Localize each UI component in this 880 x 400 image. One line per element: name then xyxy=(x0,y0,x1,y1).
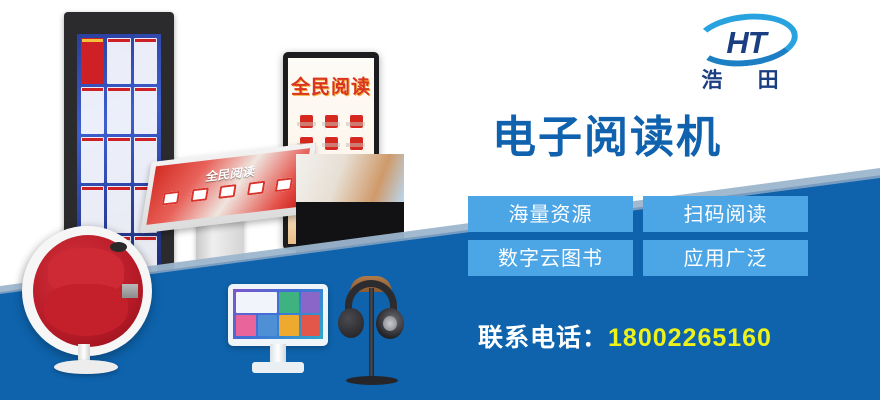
logo-chinese-name: 浩 田 xyxy=(676,64,804,94)
feature-tag-list: 海量资源 扫码阅读 数字云图书 应用广泛 xyxy=(468,196,808,276)
chair-control-panel-front xyxy=(122,284,138,298)
logo-mark-text: HT xyxy=(698,26,794,60)
app-icon-book xyxy=(297,114,316,126)
product-headphones-front xyxy=(332,276,410,388)
contact-phone-number[interactable]: 18002265160 xyxy=(608,324,772,352)
feature-tag-massive-resources[interactable]: 海量资源 xyxy=(468,196,633,232)
backdrop-panel-image xyxy=(296,154,404,202)
feature-tag-scan-to-read[interactable]: 扫码阅读 xyxy=(643,196,808,232)
contact-label: 联系电话： xyxy=(478,323,608,352)
app-icon-document xyxy=(346,114,365,126)
product-banner: 全民阅读 全民阅读 xyxy=(0,0,880,400)
feature-tag-wide-application[interactable]: 应用广泛 xyxy=(643,240,808,276)
page-title: 电子阅读机 xyxy=(492,112,722,164)
brand-logo: HT 浩 田 xyxy=(676,12,804,98)
product-desk-tablet-front xyxy=(228,284,328,376)
contact-line: 联系电话：18002265160 xyxy=(478,318,772,354)
chair-speaker-front xyxy=(110,242,127,252)
touch-table-screen: 全民阅读 xyxy=(146,148,310,225)
product-ball-chair-front xyxy=(22,226,162,366)
app-icon-target xyxy=(322,114,341,126)
app-icon-emblem xyxy=(322,136,341,148)
desk-tablet-screen-front xyxy=(233,289,323,339)
vertical-display-title: 全民阅读 xyxy=(288,72,374,99)
app-icon-pin xyxy=(346,136,365,148)
vertical-display-icon-grid xyxy=(297,114,365,147)
feature-tag-digital-cloud-library[interactable]: 数字云图书 xyxy=(468,240,633,276)
